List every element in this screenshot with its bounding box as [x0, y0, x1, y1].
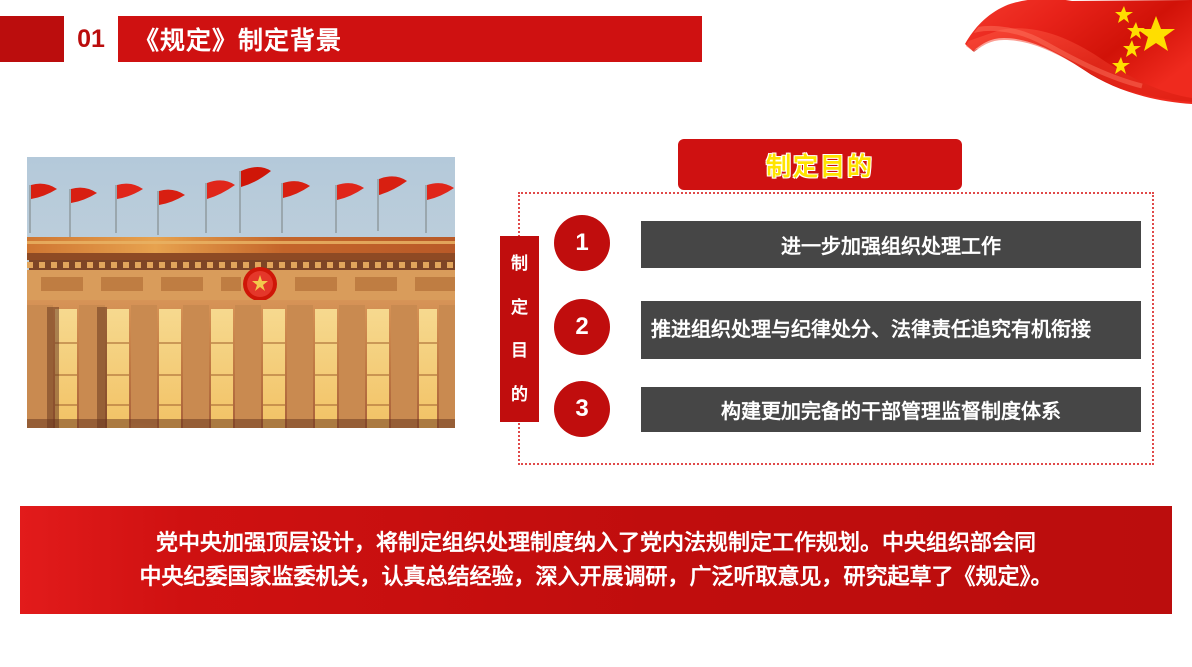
page-title: 《规定》制定背景	[134, 16, 342, 62]
purpose-number-badge-3: 3	[554, 381, 610, 437]
purpose-number-badge-2: 2	[554, 299, 610, 355]
header-section-number: 01	[64, 16, 118, 62]
summary-banner-line-2: 中央纪委国家监委机关，认真总结经验，深入开展调研，广泛听取意见，研究起草了《规定…	[139, 560, 1052, 594]
summary-banner-line-1: 党中央加强顶层设计，将制定组织处理制度纳入了党内法规制定工作规划。中央组织部会同	[156, 526, 1036, 560]
vertical-char-4: 的	[511, 386, 528, 403]
china-flag-icon	[960, 0, 1192, 118]
purpose-item-2: 推进组织处理与纪律处分、法律责任追究有机衔接	[641, 301, 1141, 359]
purpose-item-1: 进一步加强组织处理工作	[641, 221, 1141, 268]
header-accent-block	[0, 16, 64, 62]
purpose-item-3: 构建更加完备的干部管理监督制度体系	[641, 387, 1141, 432]
purpose-title-text: 制定目的	[766, 147, 874, 183]
vertical-char-3: 目	[511, 342, 528, 359]
purpose-number-badge-1: 1	[554, 215, 610, 271]
purpose-title-badge: 制定目的	[678, 139, 962, 190]
vertical-char-2: 定	[511, 299, 528, 316]
slide-canvas: 01 《规定》制定背景	[0, 0, 1192, 667]
summary-banner: 党中央加强顶层设计，将制定组织处理制度纳入了党内法规制定工作规划。中央组织部会同…	[20, 506, 1172, 614]
purpose-vertical-label: 制 定 目 的	[500, 236, 539, 422]
great-hall-photo	[27, 157, 455, 428]
vertical-char-1: 制	[511, 255, 528, 272]
